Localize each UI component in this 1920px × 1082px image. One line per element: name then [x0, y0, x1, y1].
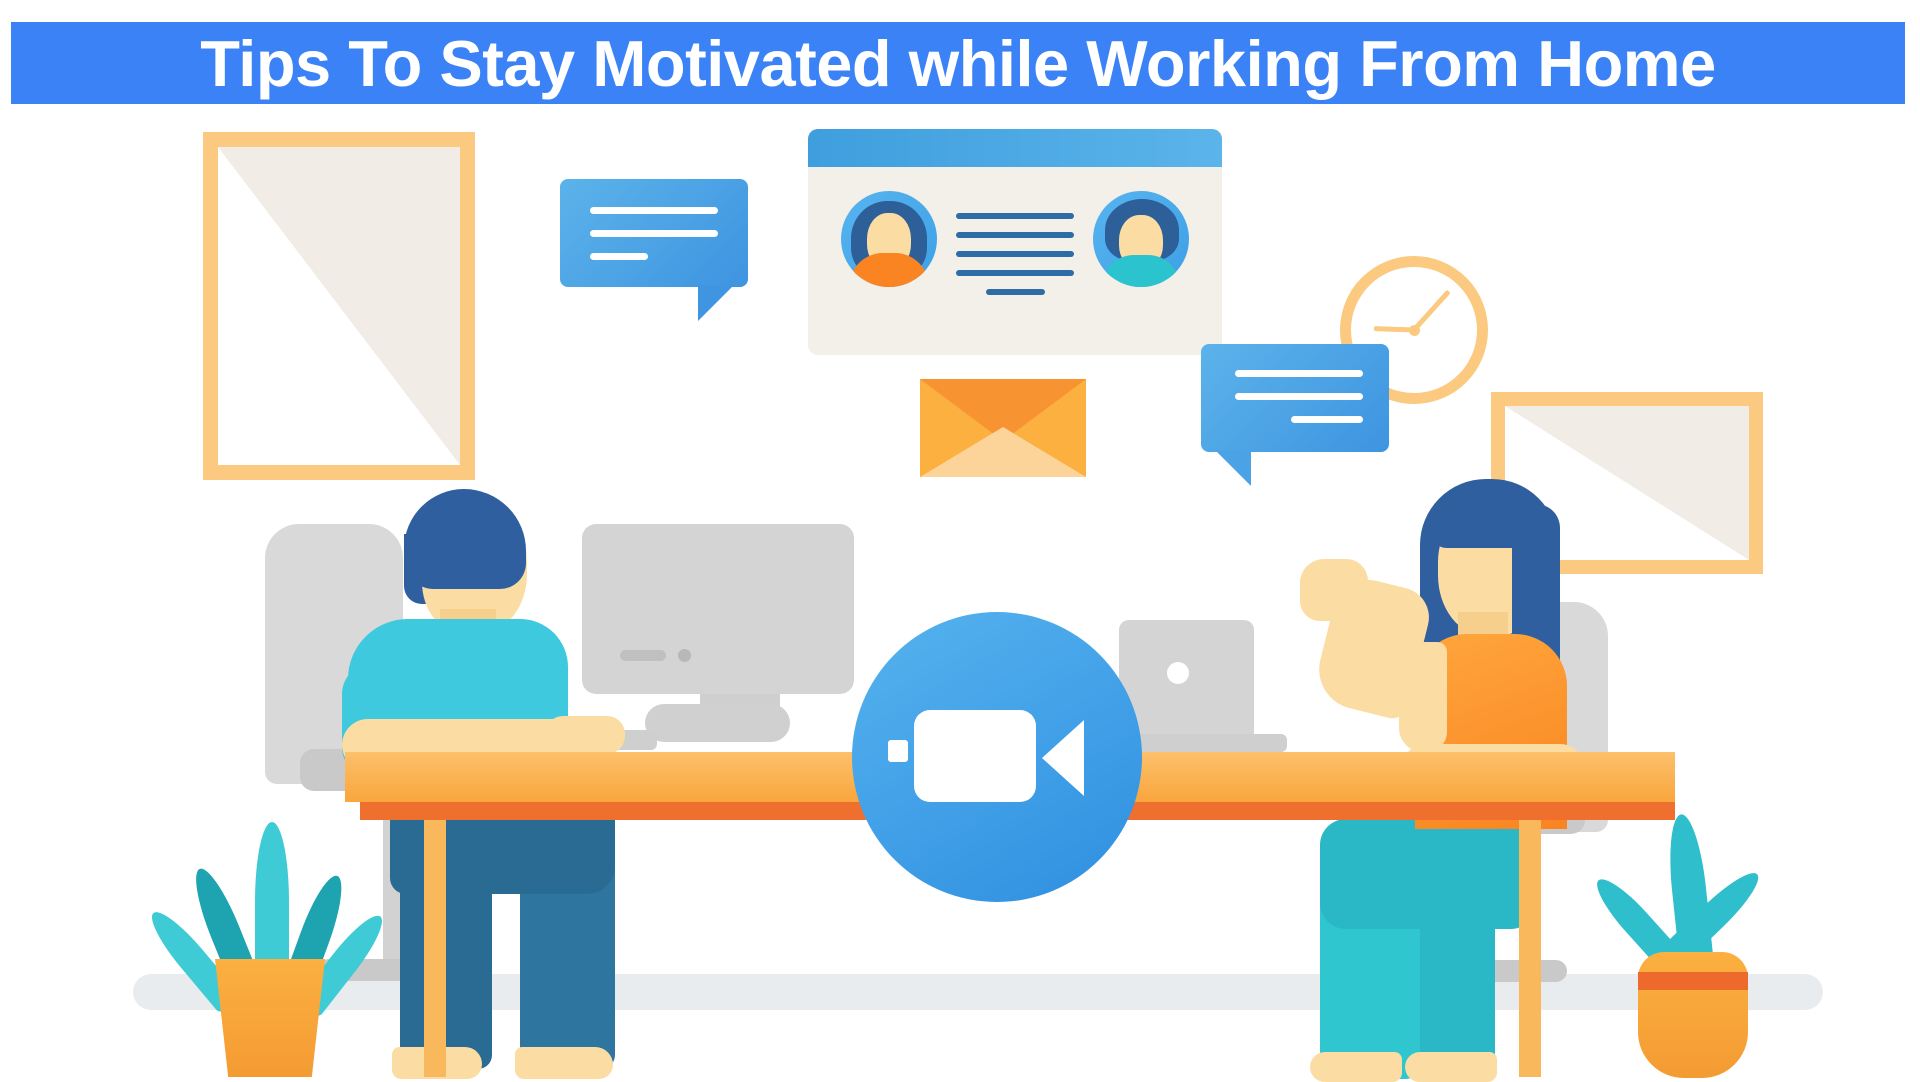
camera-indicator-icon — [888, 740, 908, 762]
plant-left-pot — [215, 959, 325, 1077]
video-call-window — [808, 129, 1222, 355]
plant-left-leaf — [255, 822, 289, 982]
desk-leg-left — [424, 802, 446, 1077]
bubble-tail — [698, 285, 734, 321]
video-camera-icon[interactable] — [852, 612, 1142, 902]
bubble-line — [590, 230, 718, 237]
avatar-participant-right — [1093, 191, 1189, 287]
monitor-port-dot — [678, 649, 691, 662]
woman-thigh — [1320, 819, 1530, 929]
text-line — [956, 213, 1074, 219]
camera-body-icon — [914, 710, 1036, 802]
monitor-vent — [620, 650, 666, 661]
picture-frame-left-canvas — [218, 147, 460, 465]
woman-foot-back — [1405, 1052, 1497, 1082]
camera-lens-icon — [1042, 720, 1084, 796]
laptop-screen — [1119, 620, 1254, 740]
avatar-participant-left — [841, 191, 937, 287]
screenshot-root: Tips To Stay Motivated while Working Fro… — [0, 0, 1920, 1080]
desktop-monitor — [582, 524, 854, 694]
email-envelope-icon — [920, 379, 1086, 477]
monitor-foot — [645, 704, 790, 742]
woman-shoulder — [1399, 642, 1447, 752]
man-foot-front — [515, 1047, 613, 1079]
avatar-torso — [1102, 255, 1180, 287]
man-hand — [545, 716, 625, 754]
bubble-line — [1235, 393, 1363, 400]
text-line — [956, 251, 1074, 257]
bubble-line — [590, 207, 718, 214]
video-call-window-titlebar — [808, 129, 1222, 167]
desk-leg-right — [1519, 802, 1541, 1077]
bubble-line — [1291, 416, 1363, 423]
speech-bubble-right — [1201, 344, 1389, 452]
speech-bubble-left — [560, 179, 748, 287]
text-line — [956, 232, 1074, 238]
video-call-text-lines — [956, 213, 1074, 295]
clock-center-pin — [1409, 325, 1420, 336]
woman-waving-hand — [1300, 559, 1368, 621]
plant-right-pot — [1638, 952, 1748, 1078]
text-line-short — [986, 289, 1045, 295]
illustration-canvas — [0, 104, 1920, 1080]
envelope-bottom-flap — [920, 427, 1086, 477]
man-hair — [404, 489, 526, 589]
page-title-banner: Tips To Stay Motivated while Working Fro… — [11, 22, 1905, 104]
picture-frame-left — [203, 132, 475, 480]
bubble-tail — [1215, 450, 1251, 486]
bubble-line — [1235, 370, 1363, 377]
plant-right-pot-band — [1638, 972, 1748, 990]
page-title: Tips To Stay Motivated while Working Fro… — [200, 31, 1716, 96]
woman-foot-front — [1310, 1052, 1402, 1082]
bubble-line — [590, 253, 648, 260]
text-line — [956, 270, 1074, 276]
laptop-logo — [1167, 662, 1189, 684]
